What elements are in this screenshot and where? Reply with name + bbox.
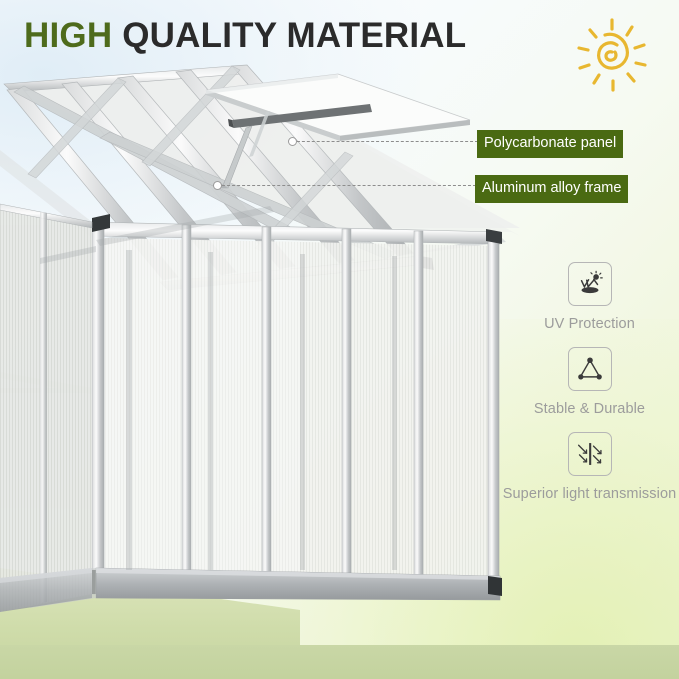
callout-dot-marker-polycarbonate <box>288 137 297 146</box>
callout-leader-line-aluminum <box>217 185 476 186</box>
callout-leader-line-polycarbonate <box>292 141 478 142</box>
sun-doodle-icon <box>568 12 654 98</box>
feature-label-light-transmission: Superior light transmission <box>500 485 679 503</box>
title-highlight-word: HIGH <box>24 16 112 55</box>
greenhouse-left-return-wall <box>0 204 92 612</box>
feature-item-stable-durable: Stable & Durable <box>500 347 679 418</box>
feature-list: UV Protection Stable & Durable <box>500 262 679 517</box>
feature-label-uv-protection: UV Protection <box>500 315 679 333</box>
callout-label-polycarbonate[interactable]: Polycarbonate panel <box>477 130 623 158</box>
uv-protection-glyph <box>575 269 605 299</box>
light-transmission-icon <box>568 432 612 476</box>
feature-item-light-transmission: Superior light transmission <box>500 432 679 503</box>
title-main-words: QUALITY MATERIAL <box>122 16 466 55</box>
callout-label-aluminum[interactable]: Aluminum alloy frame <box>475 175 628 203</box>
promo-image-canvas: HIGH QUALITY MATERIAL Polycarbonate pane… <box>0 0 679 679</box>
light-transmission-glyph <box>576 440 604 468</box>
uv-protection-icon <box>568 262 612 306</box>
feature-label-stable-durable: Stable & Durable <box>500 400 679 418</box>
feature-item-uv-protection: UV Protection <box>500 262 679 333</box>
triangle-stability-glyph <box>576 355 604 383</box>
callout-dot-marker-aluminum <box>213 181 222 190</box>
page-title: HIGH QUALITY MATERIAL <box>24 18 466 53</box>
triangle-stability-icon <box>568 347 612 391</box>
greenhouse-side-wall <box>30 214 502 608</box>
